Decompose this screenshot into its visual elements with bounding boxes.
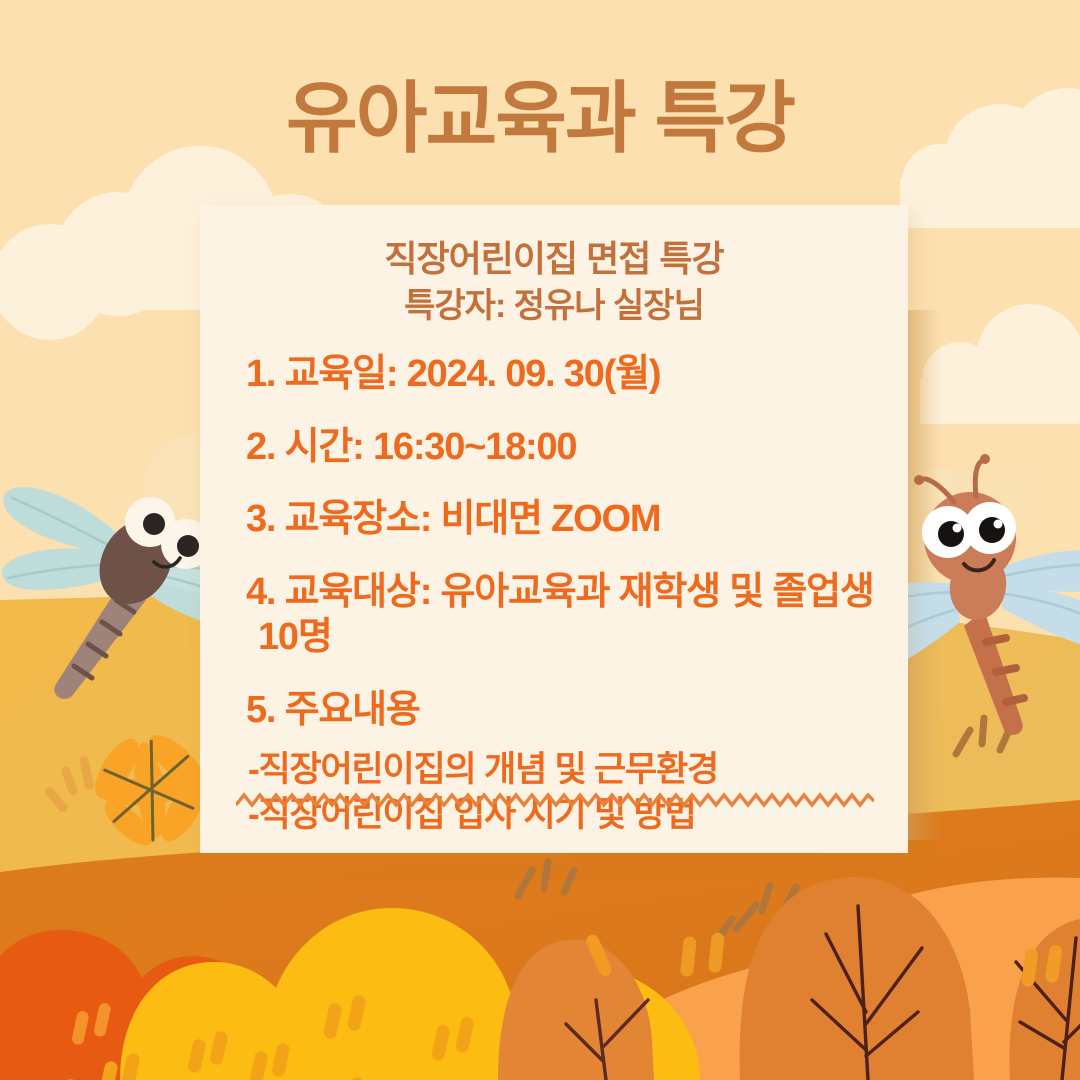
zigzag-divider xyxy=(236,791,874,811)
list-item: 2. 시간: 16:30~18:00 xyxy=(246,425,874,470)
info-card: 직장어린이집 면접 특강 특강자: 정유나 실장님 1. 교육일: 2024. … xyxy=(200,205,908,853)
list-item: 1. 교육일: 2024. 09. 30(월) xyxy=(246,352,874,397)
poster-canvas: 유아교육과 특강 직장어린이집 면접 특강 특강자: 정유나 실장님 1. 교육… xyxy=(0,0,1080,1080)
list-item: 5. 주요내용 xyxy=(246,688,874,733)
detail-list: 1. 교육일: 2024. 09. 30(월) 2. 시간: 16:30~18:… xyxy=(234,352,874,733)
list-item: 4. 교육대상: 유아교육과 재학생 및 졸업생 10명 xyxy=(246,570,874,660)
list-item: 3. 교육장소: 비대면 ZOOM xyxy=(246,497,874,542)
card-heading: 직장어린이집 면접 특강 xyxy=(234,235,874,284)
card-subheading: 특강자: 정유나 실장님 xyxy=(234,284,874,328)
card-shadow xyxy=(908,310,942,840)
sub-list-item: -직장어린이집의 개념 및 근무환경 xyxy=(248,747,874,793)
page-title: 유아교육과 특강 xyxy=(0,78,1080,160)
